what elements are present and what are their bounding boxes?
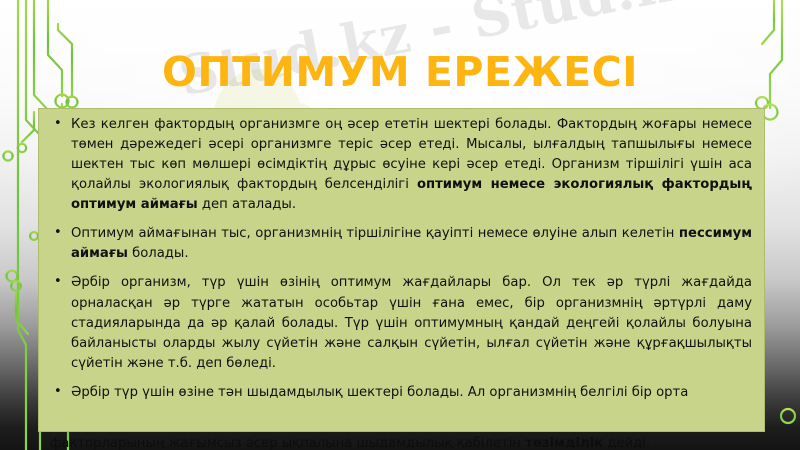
slide-canvas: Stud.kz - Stud.kz Stud.kz Stud.kz [0,0,800,450]
list-item: Әрбір организм, түр үшін өзінің оптимум … [51,273,752,373]
overflow-text-line: факторларының жағымсыз әсер ықпалына шыд… [50,434,750,450]
list-item: Әрбір түр үшін өзіне тән шыдамдылық шект… [51,383,752,403]
list-item: Кез келген фактордың организмге оң әсер … [51,115,752,215]
content-panel: Кез келген фактордың организмге оң әсер … [38,108,765,432]
list-item: Оптимум аймағынан тыс, организмнің тірші… [51,224,752,264]
page-title: ОПТИМУМ ЕРЕЖЕСІ [0,48,800,96]
bullet-list: Кез келген фактордың организмге оң әсер … [51,115,752,403]
